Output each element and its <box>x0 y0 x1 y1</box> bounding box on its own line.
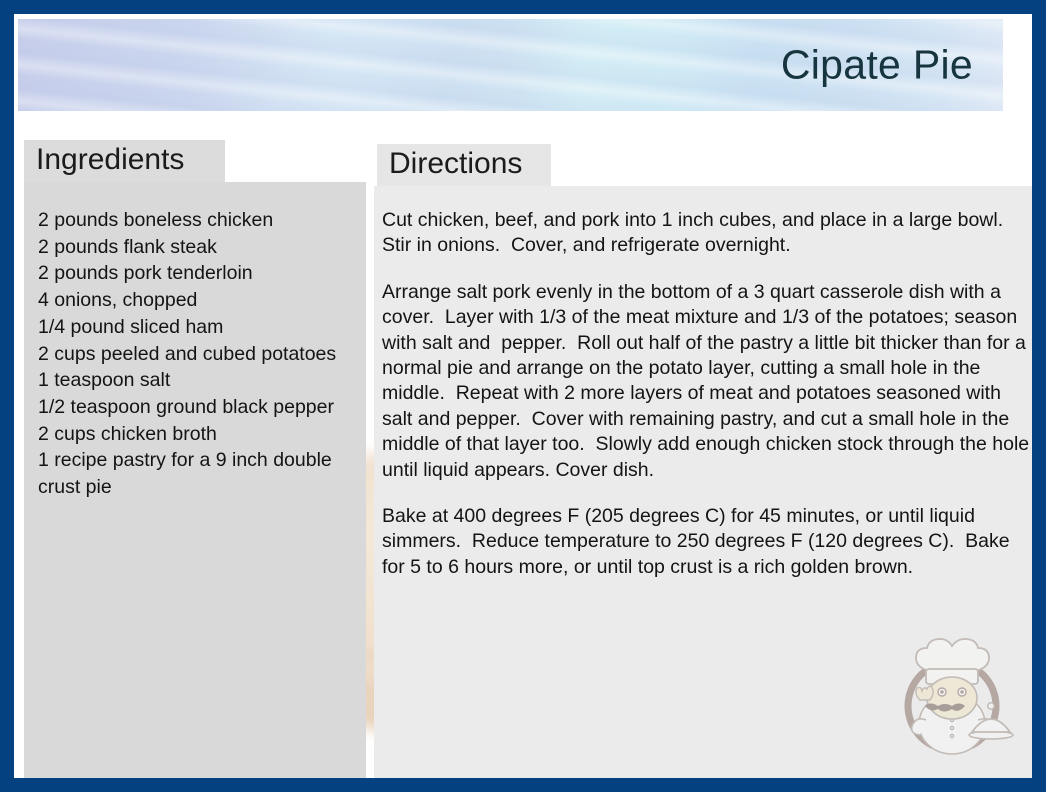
ingredient-item: 2 pounds flank steak <box>38 234 368 261</box>
directions-heading: Directions <box>377 144 551 186</box>
ingredient-item: 2 cups chicken broth <box>38 421 368 448</box>
direction-paragraph: Bake at 400 degrees F (205 degrees C) fo… <box>382 504 1034 580</box>
directions-panel-lower <box>374 606 1039 792</box>
ingredient-item: 1 teaspoon salt <box>38 367 368 394</box>
direction-paragraph: Cut chicken, beef, and pork into 1 inch … <box>382 208 1034 259</box>
ingredient-item: 2 pounds boneless chicken <box>38 207 368 234</box>
ingredients-list: 2 pounds boneless chicken2 pounds flank … <box>38 207 368 501</box>
ingredient-item: 1/4 pound sliced ham <box>38 314 368 341</box>
header-banner: Cipate Pie <box>18 19 1003 111</box>
ingredients-heading: Ingredients <box>24 140 225 182</box>
recipe-card: Cipate Pie <box>0 0 1046 792</box>
ingredient-item: 2 pounds pork tenderloin <box>38 260 368 287</box>
directions-text: Cut chicken, beef, and pork into 1 inch … <box>382 208 1034 580</box>
page-title: Cipate Pie <box>781 42 973 89</box>
direction-paragraph: Arrange salt pork evenly in the bottom o… <box>382 280 1034 483</box>
ingredient-item: 4 onions, chopped <box>38 287 368 314</box>
ingredient-item: 1/2 teaspoon ground black pepper <box>38 394 368 421</box>
ingredient-item: 2 cups peeled and cubed potatoes <box>38 341 368 368</box>
ingredient-item: 1 recipe pastry for a 9 inch double crus… <box>38 447 368 500</box>
